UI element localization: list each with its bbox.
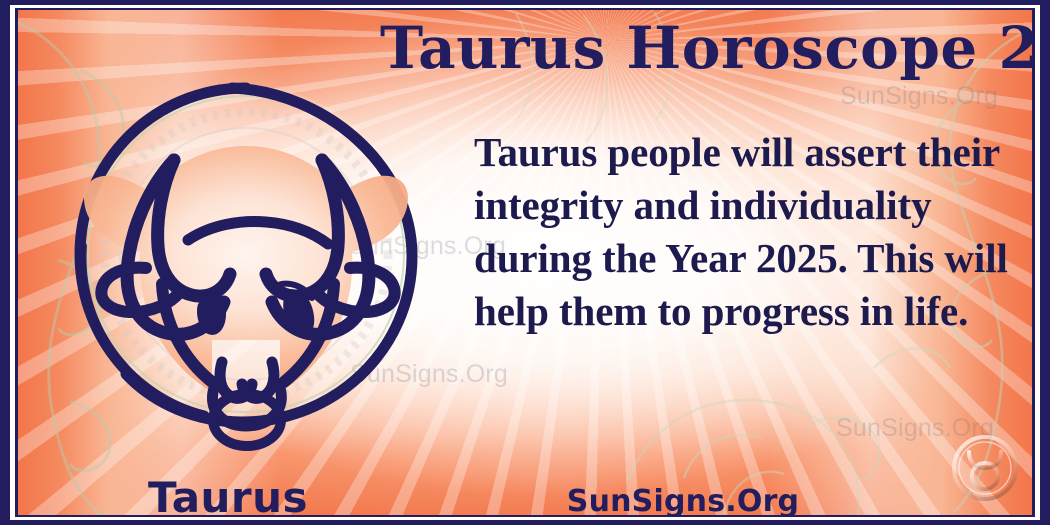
horoscope-body-text: Taurus people will assert their integrit… [474,126,1030,338]
zodiac-sign-label: Taurus [18,473,438,515]
poster-canvas: SunSigns.Org SunSigns.Org SunSigns.Org S… [18,10,1032,515]
taurus-bull-emblem-icon [36,40,456,470]
page-title: Taurus Horoscope 2025 [380,18,1032,79]
watermark-text: SunSigns.Org [840,82,998,111]
brand-footer: SunSigns.Org [468,484,898,515]
horoscope-poster: SunSigns.Org SunSigns.Org SunSigns.Org S… [0,0,1050,525]
taurus-zodiac-glyph-icon [946,429,1024,507]
